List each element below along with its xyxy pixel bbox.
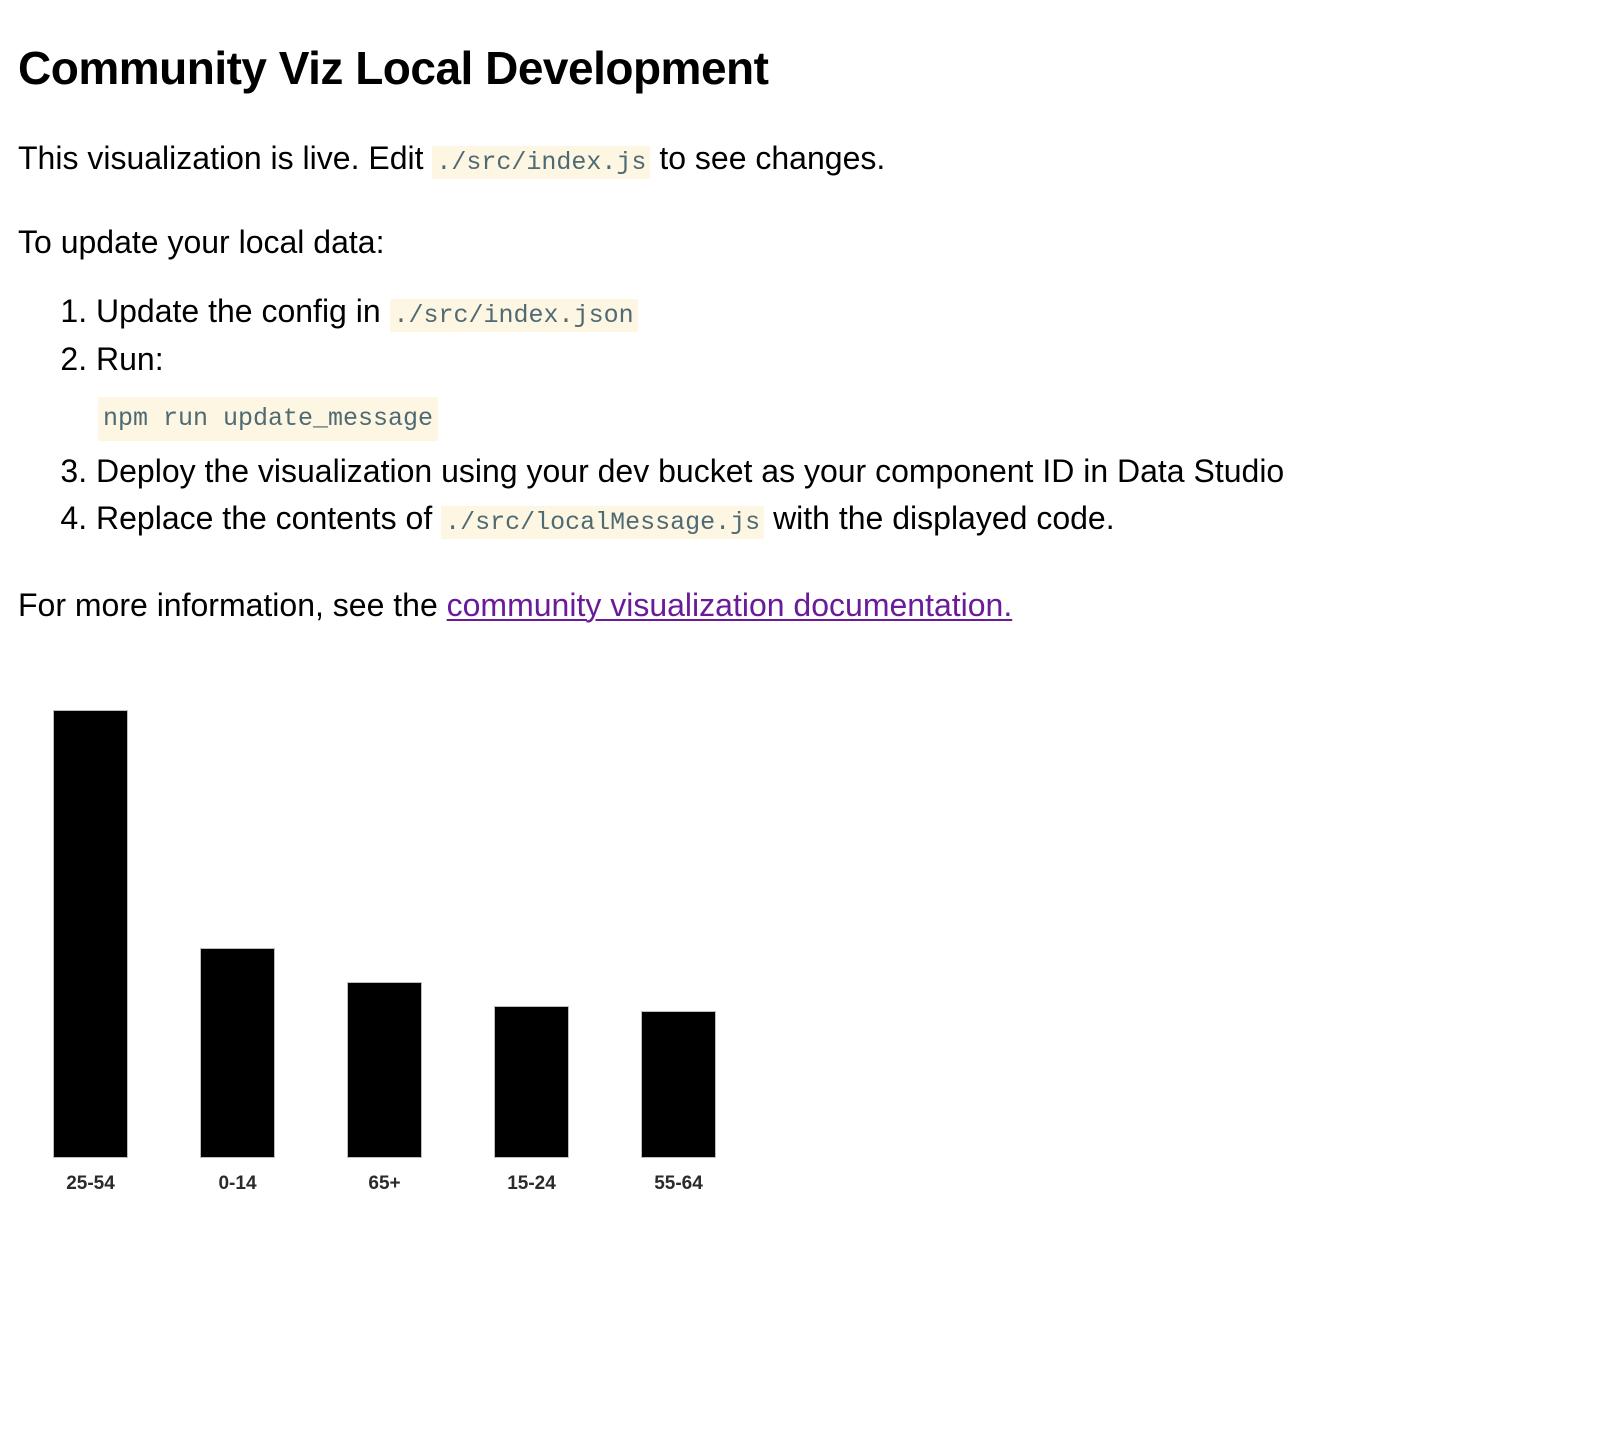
list-item: Update the config in ./src/index.json bbox=[96, 289, 1582, 334]
instructions-lead: To update your local data: bbox=[18, 221, 1582, 263]
bar-category-label: 65+ bbox=[368, 1173, 400, 1195]
footer-text-before: For more information, see the bbox=[18, 587, 447, 623]
instructions-list: Update the config in ./src/index.json Ru… bbox=[18, 289, 1582, 541]
list-item: Replace the contents of ./src/localMessa… bbox=[96, 496, 1582, 541]
bar bbox=[53, 710, 128, 1158]
page-title: Community Viz Local Development bbox=[18, 42, 1582, 95]
intro-paragraph: This visualization is live. Edit ./src/i… bbox=[18, 137, 1582, 179]
bar bbox=[200, 948, 275, 1158]
bar-group: 0-14 bbox=[200, 688, 275, 1158]
community-visualization-documentation-link[interactable]: community visualization documentation. bbox=[447, 587, 1013, 623]
step-3-text-before: Deploy the visualization using your dev … bbox=[96, 453, 1284, 489]
intro-text-after: to see changes. bbox=[650, 140, 885, 176]
bar-group: 25-54 bbox=[53, 688, 128, 1158]
intro-code-path: ./src/index.js bbox=[432, 146, 650, 179]
step-2-text-before: Run: bbox=[96, 341, 164, 377]
bar bbox=[347, 982, 422, 1158]
bar-group: 55-64 bbox=[641, 688, 716, 1158]
step-2-code-block: npm run update_message bbox=[98, 392, 1582, 441]
step-4-code-path: ./src/localMessage.js bbox=[441, 506, 764, 539]
step-2-command: npm run update_message bbox=[98, 397, 438, 441]
step-1-text-before: Update the config in bbox=[96, 293, 390, 329]
page-root: Community Viz Local Development This vis… bbox=[0, 0, 1600, 1208]
bar-category-label: 25-54 bbox=[66, 1173, 115, 1195]
list-item: Deploy the visualization using your dev … bbox=[96, 449, 1582, 494]
bar-group: 65+ bbox=[347, 688, 422, 1158]
bar-category-label: 55-64 bbox=[654, 1173, 703, 1195]
bar-group: 15-24 bbox=[494, 688, 569, 1158]
step-1-code-path: ./src/index.json bbox=[390, 299, 638, 332]
intro-text-before: This visualization is live. Edit bbox=[18, 140, 432, 176]
step-4-text-before: Replace the contents of bbox=[96, 500, 441, 536]
bar bbox=[494, 1006, 569, 1158]
bar-chart: 25-540-1465+15-2455-64 bbox=[18, 688, 778, 1208]
step-4-text-after: with the displayed code. bbox=[764, 500, 1114, 536]
bar-category-label: 0-14 bbox=[218, 1173, 256, 1195]
bar-category-label: 15-24 bbox=[507, 1173, 556, 1195]
footer-paragraph: For more information, see the community … bbox=[18, 584, 1582, 626]
list-item: Run: npm run update_message bbox=[96, 337, 1582, 441]
chart-plot-area: 25-540-1465+15-2455-64 bbox=[18, 688, 778, 1158]
bar bbox=[641, 1011, 716, 1158]
